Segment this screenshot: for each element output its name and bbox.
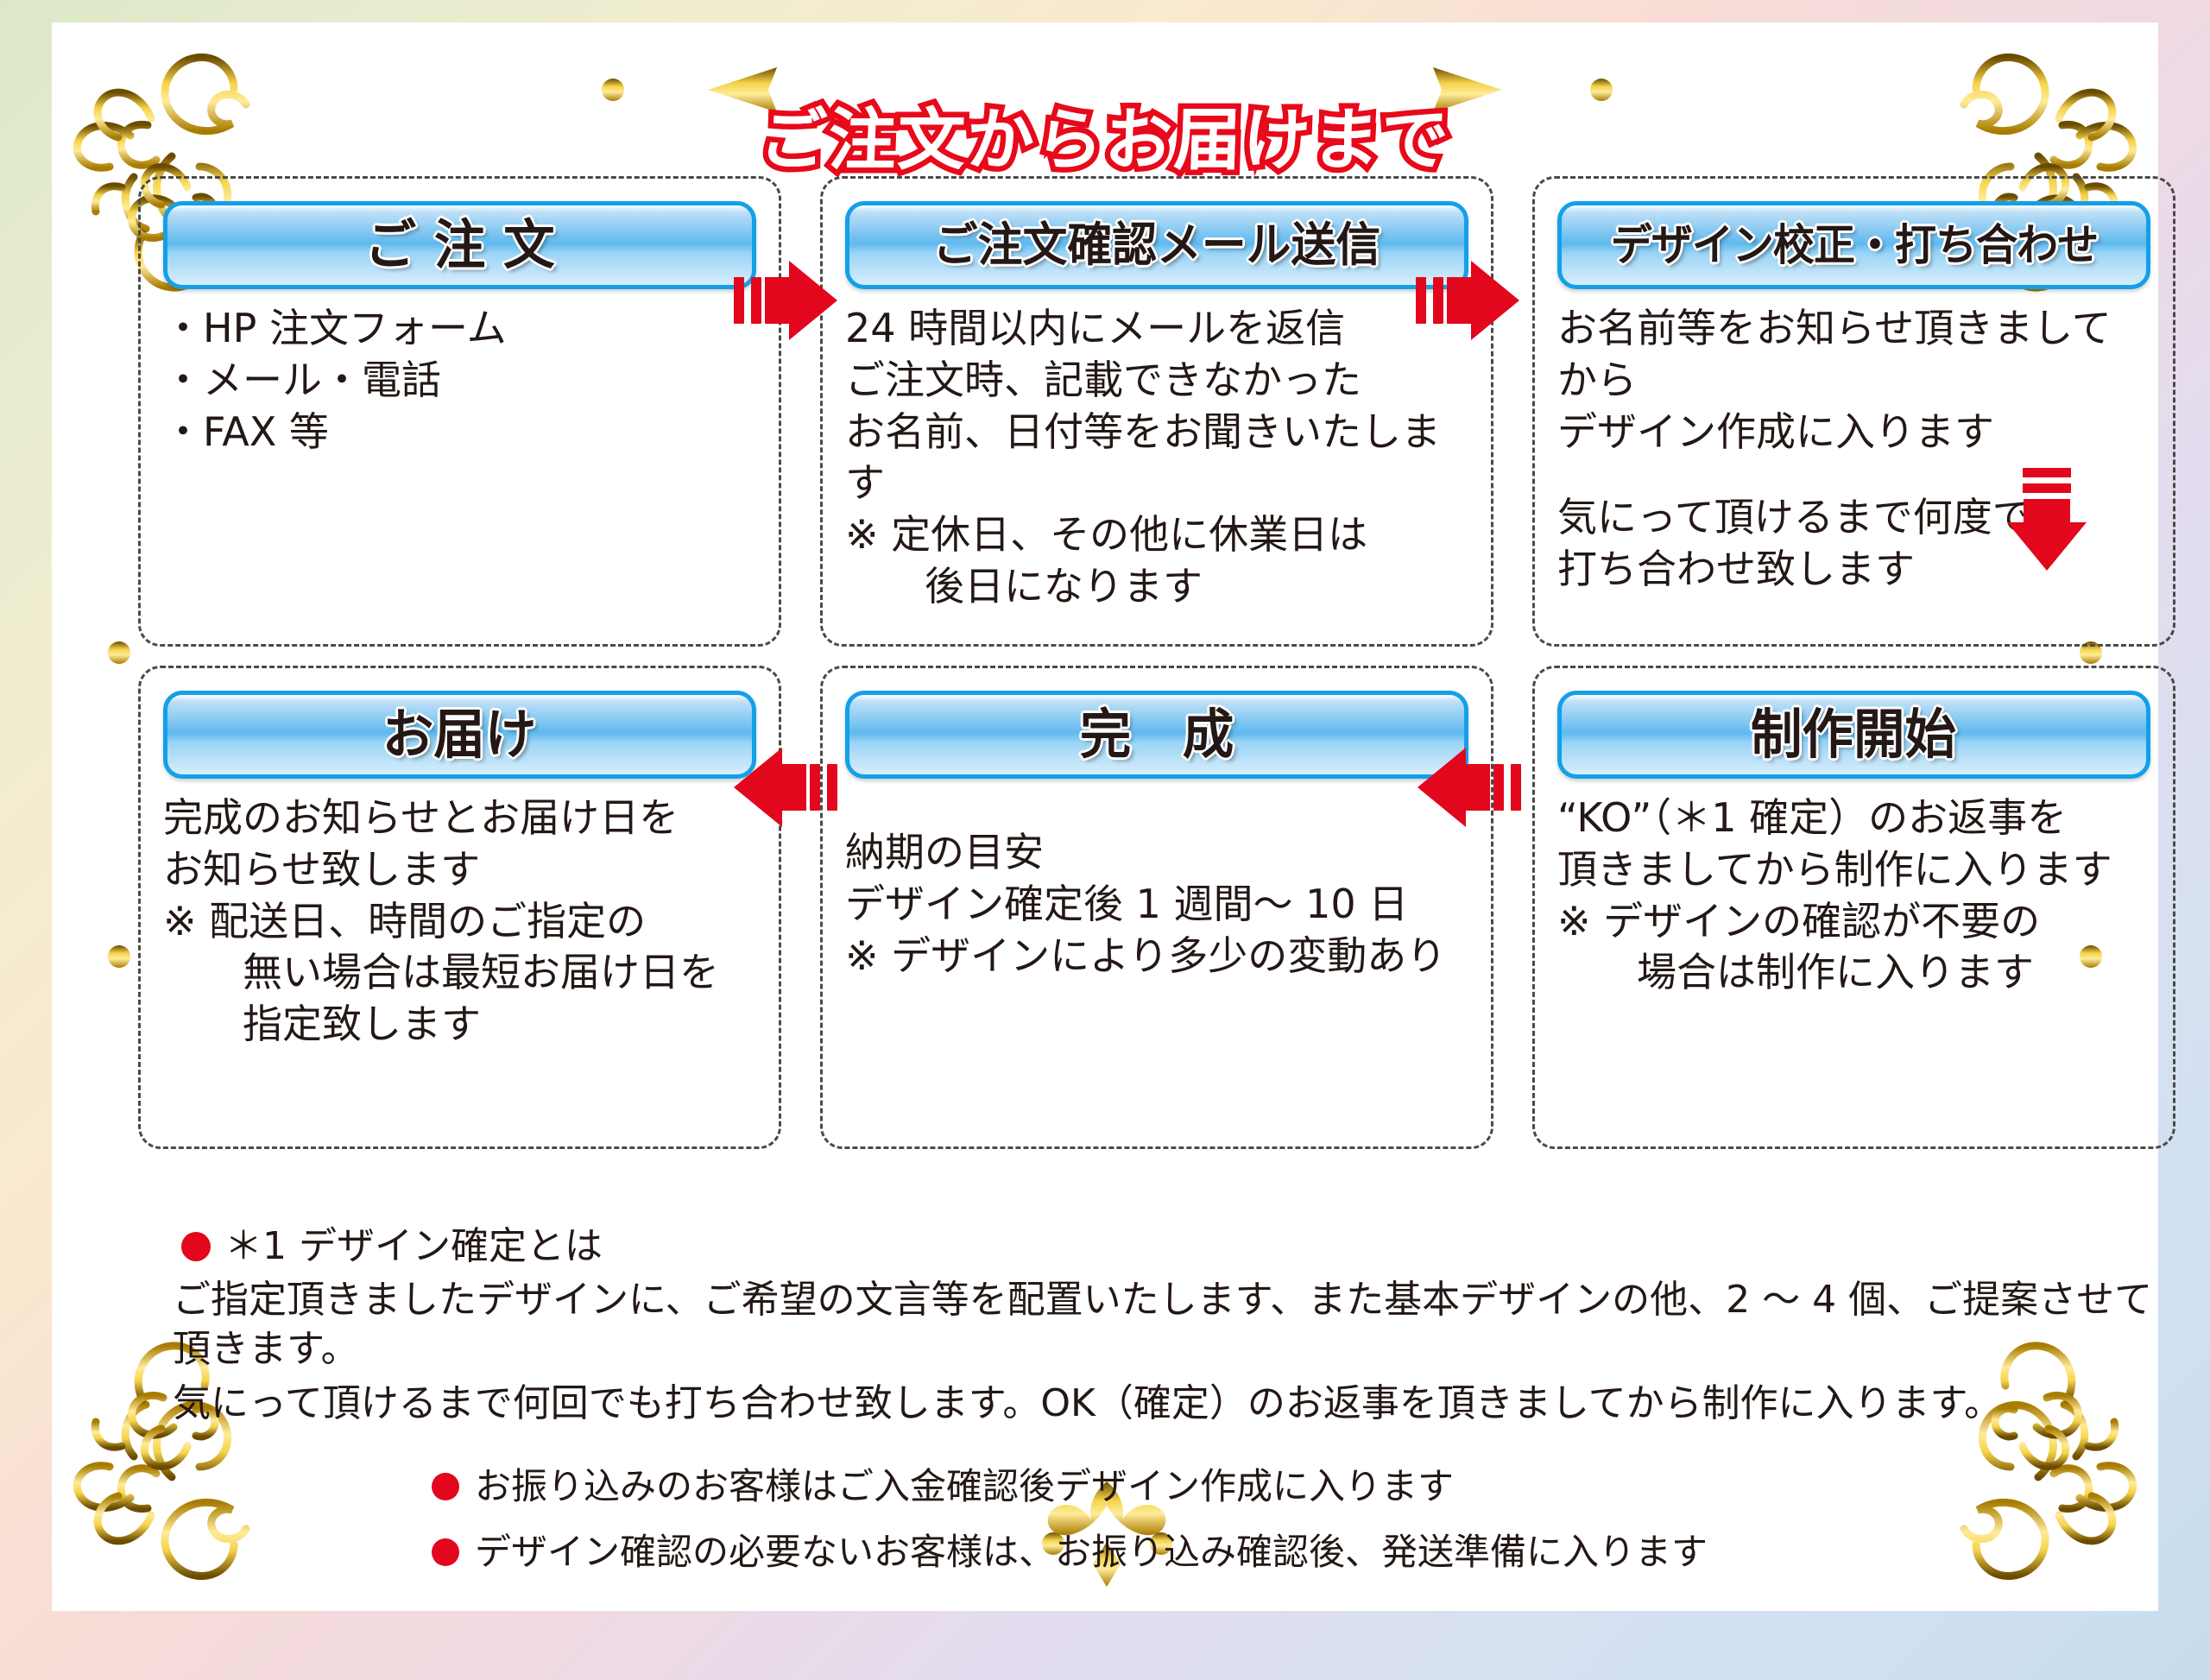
step-line: “KO”（＊1 確定）のお返事を (1557, 793, 2150, 844)
arrow-order-to-confirm (734, 261, 837, 340)
footnote-heading-text: ＊1 デザイン確定とは (224, 1222, 603, 1270)
step-header-confirm-mail-label: ご注文確認メール送信 (933, 222, 1380, 268)
page-title: ご注文からお届けまで (52, 86, 2158, 183)
footnote-heading: ＊1 デザイン確定とは (181, 1222, 2175, 1270)
arrow-dash (1511, 764, 1521, 811)
arrow-head-left (734, 748, 803, 827)
page-title-text: ご注文からお届けまで (758, 86, 1452, 183)
step-header-order: ご 注 文 (163, 201, 756, 289)
step-line: 後日になります (845, 561, 1468, 613)
step-line: 頂きましてから制作に入ります (1557, 844, 2150, 896)
step-header-design-proof-label: デザイン校正・打ち合わせ (1610, 224, 2097, 267)
step-header-order-label: ご 注 文 (364, 218, 554, 272)
step-line: ※ デザインの確認が不要の (1557, 896, 2150, 948)
arrow-complete-to-delivery (734, 748, 837, 827)
arrow-head-right (768, 261, 837, 340)
red-bullet-icon (432, 1473, 459, 1500)
arrow-dash (1416, 277, 1426, 324)
footnote-bullet-item: デザイン確認の必要ないお客様は、お振り込み確認後、発送準備に入ります (432, 1529, 2175, 1576)
step-header-complete-label: 完 成 (1080, 708, 1234, 761)
footnote-bullets: お振り込みのお客様はご入金確認後デザイン作成に入ります デザイン確認の必要ないお… (432, 1463, 2175, 1576)
step-line: ご注文時、記載できなかった (845, 355, 1468, 407)
arrow-dash (2023, 483, 2071, 493)
step-line: ・メール・電話 (163, 355, 756, 407)
step-line: 場合は制作に入ります (1557, 947, 2150, 999)
process-flow-grid: ご 注 文 ・HP 注文フォーム ・メール・電話 ・FAX 等 ご注文確認メール… (138, 176, 2175, 1203)
step-line: 無い場合は最短お届け日を (163, 947, 756, 999)
footnote-paragraph-line: ご指定頂きましたデザインに、ご希望の文言等を配置いたします、また基本デザインの他… (173, 1275, 2175, 1374)
arrow-head-down (2007, 499, 2087, 571)
step-line: 指定致します (163, 999, 756, 1051)
step-header-confirm-mail: ご注文確認メール送信 (845, 201, 1468, 289)
step-line: ・HP 注文フォーム (163, 303, 756, 355)
spacer (845, 793, 1468, 827)
arrow-dash (810, 764, 820, 811)
step-panel-design-proof: デザイン校正・打ち合わせ お名前等をお知らせ頂きましてから デザイン作成に入りま… (1532, 176, 2175, 647)
red-bullet-icon (432, 1538, 459, 1566)
step-line: 完成のお知らせとお届け日を (163, 793, 756, 844)
step-line: 納期の目安 (845, 827, 1468, 879)
arrow-dash (734, 277, 744, 324)
footnote-paragraph-line: 気にって頂けるまで何回でも打ち合わせ致します。OK（確定）のお返事を頂きましてか… (173, 1379, 2175, 1428)
footnote-bullet-item: お振り込みのお客様はご入金確認後デザイン作成に入ります (432, 1463, 2175, 1511)
step-line: 24 時間以内にメールを返信 (845, 303, 1468, 355)
arrow-dash (2023, 468, 2071, 477)
arrow-head-right (1450, 261, 1519, 340)
arrow-head-left (1418, 748, 1487, 827)
step-panel-production-start: 制作開始 “KO”（＊1 確定）のお返事を 頂きましてから制作に入ります ※ デ… (1532, 666, 2175, 1149)
footnote-bullet-text: デザイン確認の必要ないお客様は、お振り込み確認後、発送準備に入ります (475, 1529, 1708, 1576)
footnotes: ＊1 デザイン確定とは ご指定頂きましたデザインに、ご希望の文言等を配置いたしま… (173, 1222, 2175, 1595)
step-header-production-start: 制作開始 (1557, 691, 2150, 779)
step-line: お知らせ致します (163, 844, 756, 896)
step-line: ・FAX 等 (163, 407, 756, 458)
poster-card: ご注文からお届けまで ご注文からお届けまで ご 注 文 ・HP 注文フォーム ・… (52, 22, 2158, 1611)
step-line: ※ デザインにより多少の変動あり (845, 931, 1468, 982)
arrow-proof-to-production (2007, 468, 2087, 571)
arrow-dash (751, 277, 761, 324)
step-panel-order: ご 注 文 ・HP 注文フォーム ・メール・電話 ・FAX 等 (138, 176, 781, 647)
step-line: デザイン作成に入ります (1557, 407, 2150, 458)
step-line: ※ 定休日、その他に休業日は (845, 509, 1468, 561)
step-line: お名前、日付等をお聞きいたします (845, 407, 1468, 510)
step-line: ※ 配送日、時間のご指定の (163, 896, 756, 948)
step-header-production-start-label: 制作開始 (1751, 708, 1956, 761)
step-header-design-proof: デザイン校正・打ち合わせ (1557, 201, 2150, 289)
step-header-complete: 完 成 (845, 691, 1468, 779)
step-panel-complete: 完 成 納期の目安 デザイン確定後 1 週間～ 10 日 ※ デザインにより多少… (820, 666, 1493, 1149)
arrow-dash (827, 764, 837, 811)
arrow-production-to-complete (1418, 748, 1521, 827)
arrow-dash (1433, 277, 1443, 324)
step-line: お名前等をお知らせ頂きましてから (1557, 303, 2150, 407)
step-header-delivery-label: お届け (382, 708, 537, 761)
step-line: デザイン確定後 1 週間～ 10 日 (845, 879, 1468, 931)
red-bullet-icon (181, 1232, 211, 1261)
step-panel-confirm-mail: ご注文確認メール送信 24 時間以内にメールを返信 ご注文時、記載できなかった … (820, 176, 1493, 647)
step-panel-delivery: お届け 完成のお知らせとお届け日を お知らせ致します ※ 配送日、時間のご指定の… (138, 666, 781, 1149)
step-header-delivery: お届け (163, 691, 756, 779)
arrow-confirm-to-proof (1416, 261, 1519, 340)
arrow-dash (1493, 764, 1504, 811)
footnote-bullet-text: お振り込みのお客様はご入金確認後デザイン作成に入ります (475, 1463, 1454, 1511)
